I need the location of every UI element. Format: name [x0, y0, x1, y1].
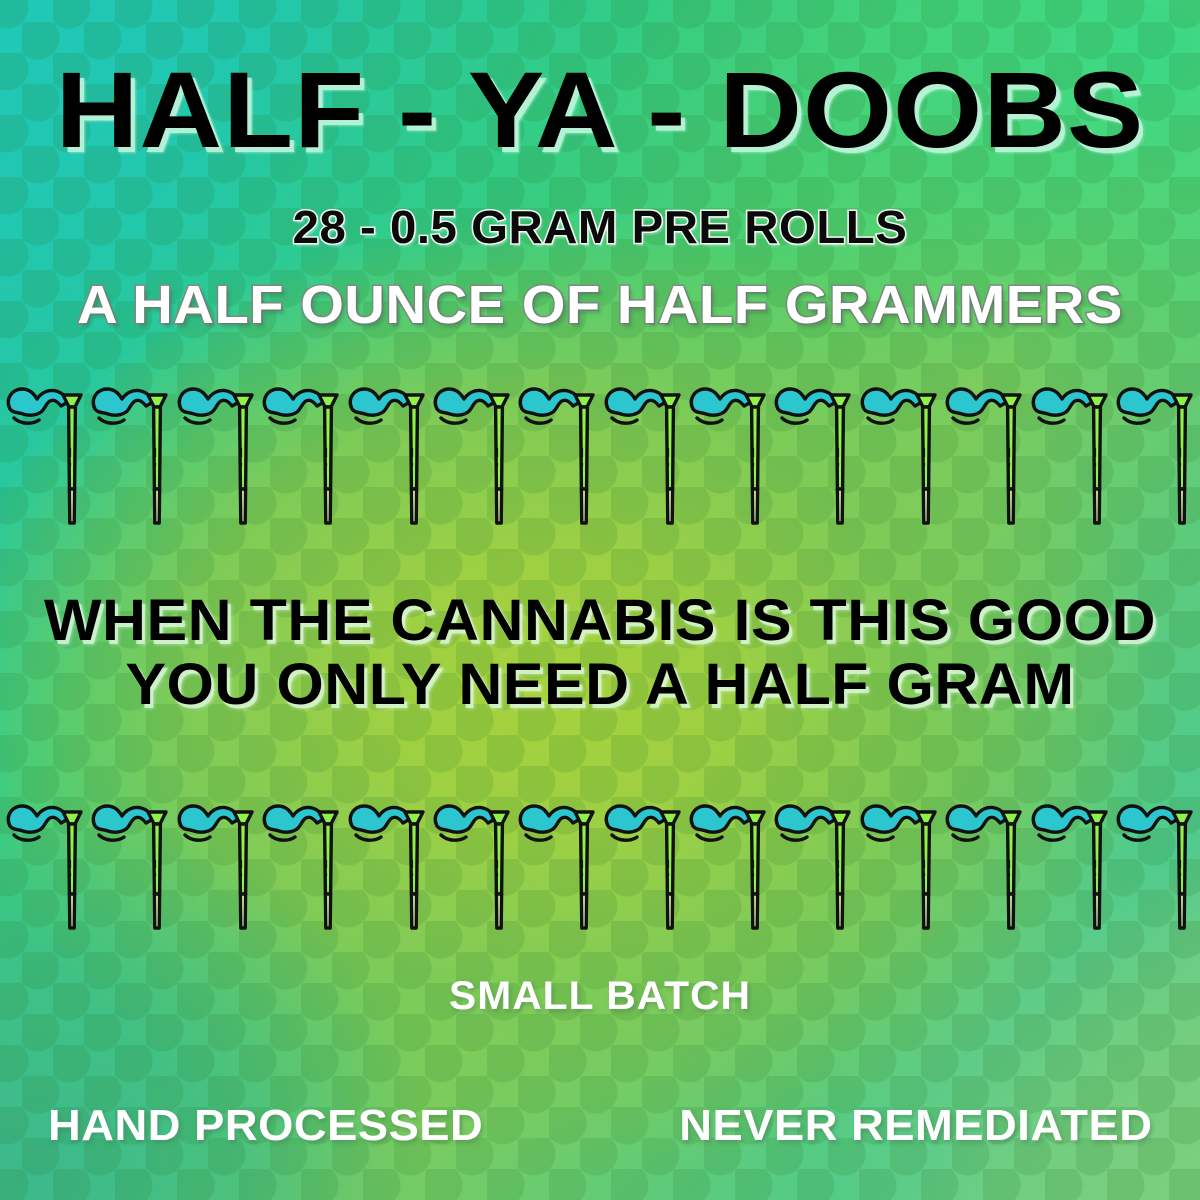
- content-layer: HALF - YA - DOOBS 28 - 0.5 GRAM PRE ROLL…: [0, 0, 1200, 1200]
- promo-poster: HALF - YA - DOOBS 28 - 0.5 GRAM PRE ROLL…: [0, 0, 1200, 1200]
- middle-message-line-1: WHEN THE CANNABIS IS THIS GOOD: [0, 592, 1200, 650]
- joint-pre-roll-icon: [858, 383, 940, 531]
- joint-pre-roll-icon: [89, 383, 171, 531]
- joint-pre-roll-icon: [260, 800, 342, 936]
- joint-pre-roll-icon: [1029, 800, 1111, 936]
- joint-pre-roll-icon: [943, 383, 1025, 531]
- footer-claim-right: NEVER REMEDIATED: [679, 1104, 1152, 1148]
- footer-claim-left: HAND PROCESSED: [48, 1104, 483, 1148]
- joint-pre-roll-icon: [687, 800, 769, 936]
- joint-pre-roll-icon: [516, 800, 598, 936]
- small-batch-label: SMALL BATCH: [0, 976, 1200, 1016]
- joint-pre-roll-icon: [89, 800, 171, 936]
- joint-pre-roll-icon: [772, 800, 854, 936]
- footer-claims: HAND PROCESSED NEVER REMEDIATED: [0, 1104, 1200, 1148]
- joint-pre-roll-icon: [1114, 383, 1196, 531]
- joint-pre-roll-icon: [260, 383, 342, 531]
- middle-message-line-2: YOU ONLY NEED A HALF GRAM: [0, 656, 1200, 714]
- joint-pre-roll-icon: [943, 800, 1025, 936]
- joint-pre-roll-icon: [346, 383, 428, 531]
- poster-subtitle: 28 - 0.5 GRAM PRE ROLLS: [0, 204, 1200, 250]
- joint-pre-roll-icon: [175, 800, 257, 936]
- joint-pre-roll-icon: [175, 383, 257, 531]
- joint-pre-roll-icon: [602, 383, 684, 531]
- poster-tagline: A HALF OUNCE OF HALF GRAMMERS: [0, 278, 1200, 332]
- joint-pre-roll-icon: [516, 383, 598, 531]
- joint-pre-roll-icon: [431, 800, 513, 936]
- joint-pre-roll-icon: [602, 800, 684, 936]
- joint-icon-row-top: [0, 383, 1200, 531]
- joint-icon-row-bottom: [0, 800, 1200, 936]
- joint-pre-roll-icon: [772, 383, 854, 531]
- joint-pre-roll-icon: [1029, 383, 1111, 531]
- joint-pre-roll-icon: [431, 383, 513, 531]
- poster-title: HALF - YA - DOOBS: [0, 56, 1200, 164]
- joint-pre-roll-icon: [858, 800, 940, 936]
- joint-pre-roll-icon: [1114, 800, 1196, 936]
- joint-pre-roll-icon: [346, 800, 428, 936]
- joint-pre-roll-icon: [4, 383, 86, 531]
- joint-pre-roll-icon: [4, 800, 86, 936]
- joint-pre-roll-icon: [687, 383, 769, 531]
